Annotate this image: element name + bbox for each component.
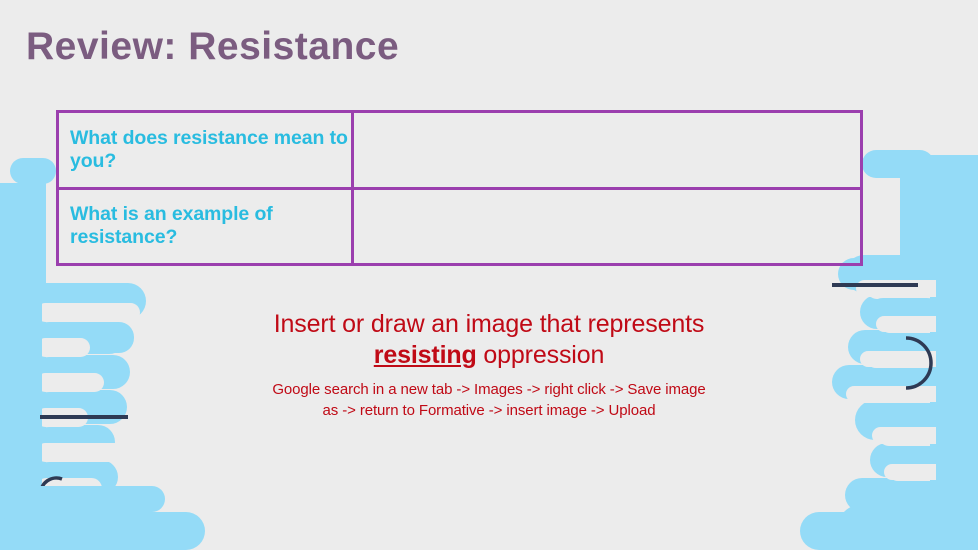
table-row: What is an example of resistance? <box>58 188 862 265</box>
slide-canvas: Review: Resistance What does resistance … <box>0 0 978 550</box>
instruction-line-2-tail: oppression <box>477 341 605 369</box>
question-cell-1: What does resistance mean to you? <box>58 112 353 189</box>
answer-cell-1[interactable] <box>353 112 862 189</box>
answer-cell-2[interactable] <box>353 188 862 265</box>
page-title: Review: Resistance <box>26 26 399 69</box>
instruction-steps: Google search in a new tab -> Images -> … <box>0 379 978 422</box>
question-cell-2: What is an example of resistance? <box>58 188 353 265</box>
instruction-step-line-1: Google search in a new tab -> Images -> … <box>272 381 705 398</box>
instruction-line-1: Insert or draw an image that represents <box>274 310 704 338</box>
review-questions-table: What does resistance mean to you? What i… <box>56 110 863 266</box>
instruction-block: Insert or draw an image that represents … <box>0 309 978 421</box>
instruction-emphasis: resisting <box>374 341 477 369</box>
table-row: What does resistance mean to you? <box>58 112 862 189</box>
instruction-headline: Insert or draw an image that represents … <box>0 309 978 372</box>
instruction-step-line-2: as -> return to Formative -> insert imag… <box>323 402 656 419</box>
